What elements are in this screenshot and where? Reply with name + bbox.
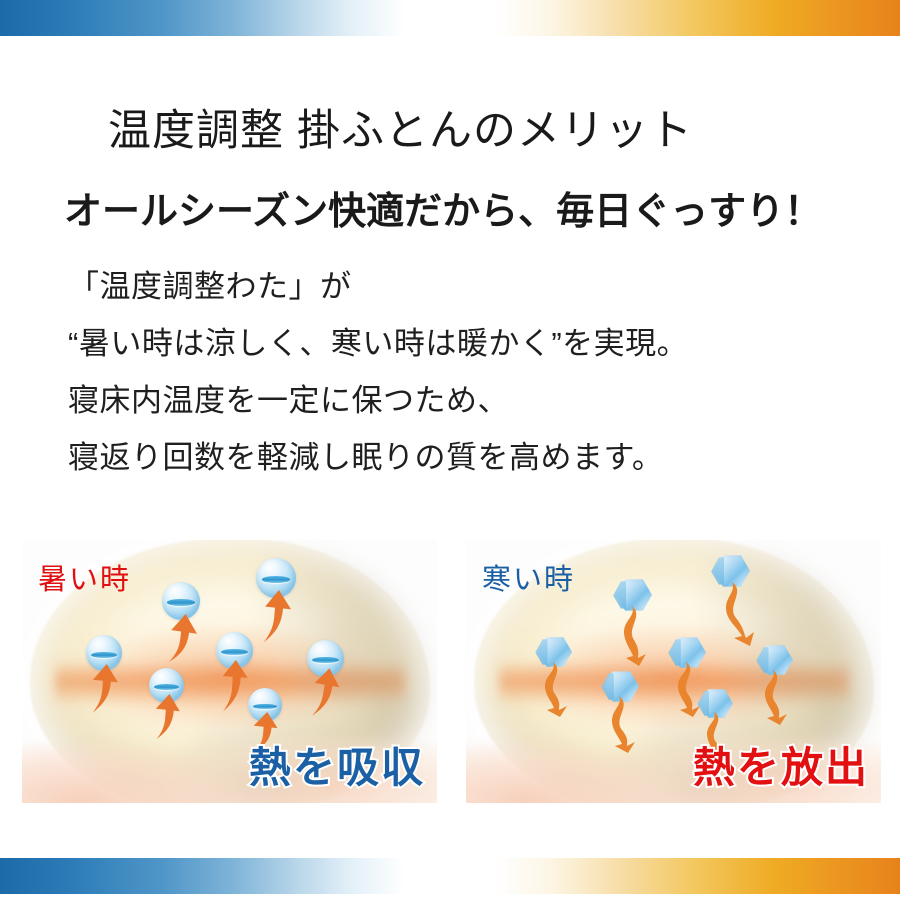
top-gradient-bar — [0, 0, 900, 36]
orange-arrow-down-icon — [540, 660, 580, 718]
orange-arrow-up-icon — [162, 612, 206, 668]
bottom-gradient-bar — [0, 858, 900, 894]
panel-label-cold: 寒い時 — [482, 556, 575, 598]
orange-arrow-down-icon — [720, 580, 764, 648]
orange-arrow-up-icon — [305, 666, 347, 722]
orange-arrow-down-icon — [606, 694, 648, 754]
body-line-3: 寝床内温度を一定に保つため、 — [68, 372, 868, 429]
orange-arrow-up-icon — [84, 662, 126, 718]
page-subtitle: オールシーズン快適だから、毎日ぐっすり！ — [64, 180, 822, 235]
body-line-4: 寝返り回数を軽減し眠りの質を高めます。 — [68, 429, 868, 486]
body-line-1: 「温度調整わた」が — [68, 258, 868, 315]
body-text-block: 「温度調整わた」が “暑い時は涼しく、寒い時は暖かく”を実現。 寝床内温度を一定… — [68, 258, 868, 486]
orange-arrow-down-icon — [760, 668, 800, 726]
panel-cold: 寒い時 熱を放出 — [466, 540, 881, 803]
panel-caption-absorb: 熱を吸収 — [249, 734, 425, 795]
panel-caption-release: 熱を放出 — [693, 734, 869, 795]
panel-label-hot: 暑い時 — [38, 556, 131, 598]
orange-arrow-up-icon — [256, 588, 300, 648]
orange-arrow-up-icon — [148, 692, 188, 744]
panel-hot: 暑い時 熱を吸収 — [22, 540, 437, 803]
page-title: 温度調整 掛ふとんのメリット — [108, 96, 693, 158]
orange-arrow-down-icon — [618, 604, 660, 668]
body-line-2: “暑い時は涼しく、寒い時は暖かく”を実現。 — [68, 315, 868, 372]
